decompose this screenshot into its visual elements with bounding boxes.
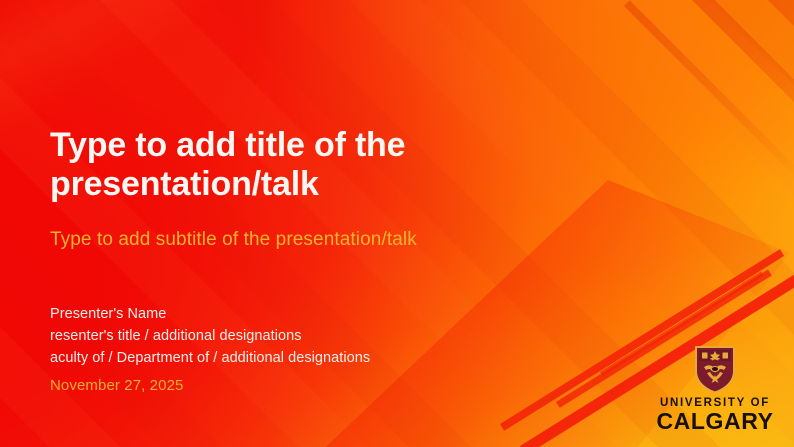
ucalgary-logo: UNIVERSITY OF CALGARY <box>654 344 776 434</box>
presenter-affiliation[interactable]: aculty of / Department of / additional d… <box>50 347 650 369</box>
presentation-title-slide: Type to add title of the presentation/ta… <box>0 0 794 447</box>
wordmark-line-calgary: CALGARY <box>656 410 773 433</box>
presenter-info-block[interactable]: Presenter's Name resenter's title / addi… <box>50 303 650 398</box>
presenter-name[interactable]: Presenter's Name <box>50 303 650 325</box>
presenter-title[interactable]: resenter's title / additional designatio… <box>50 325 650 347</box>
ucalgary-shield-crest <box>694 344 736 394</box>
title-placeholder[interactable]: Type to add title of the presentation/ta… <box>50 126 650 205</box>
slide-content: Type to add title of the presentation/ta… <box>50 0 670 447</box>
subtitle-placeholder[interactable]: Type to add subtitle of the presentation… <box>50 229 650 251</box>
ucalgary-wordmark: UNIVERSITY OF CALGARY <box>656 398 773 434</box>
presentation-date[interactable]: November 27, 2025 <box>50 375 650 398</box>
